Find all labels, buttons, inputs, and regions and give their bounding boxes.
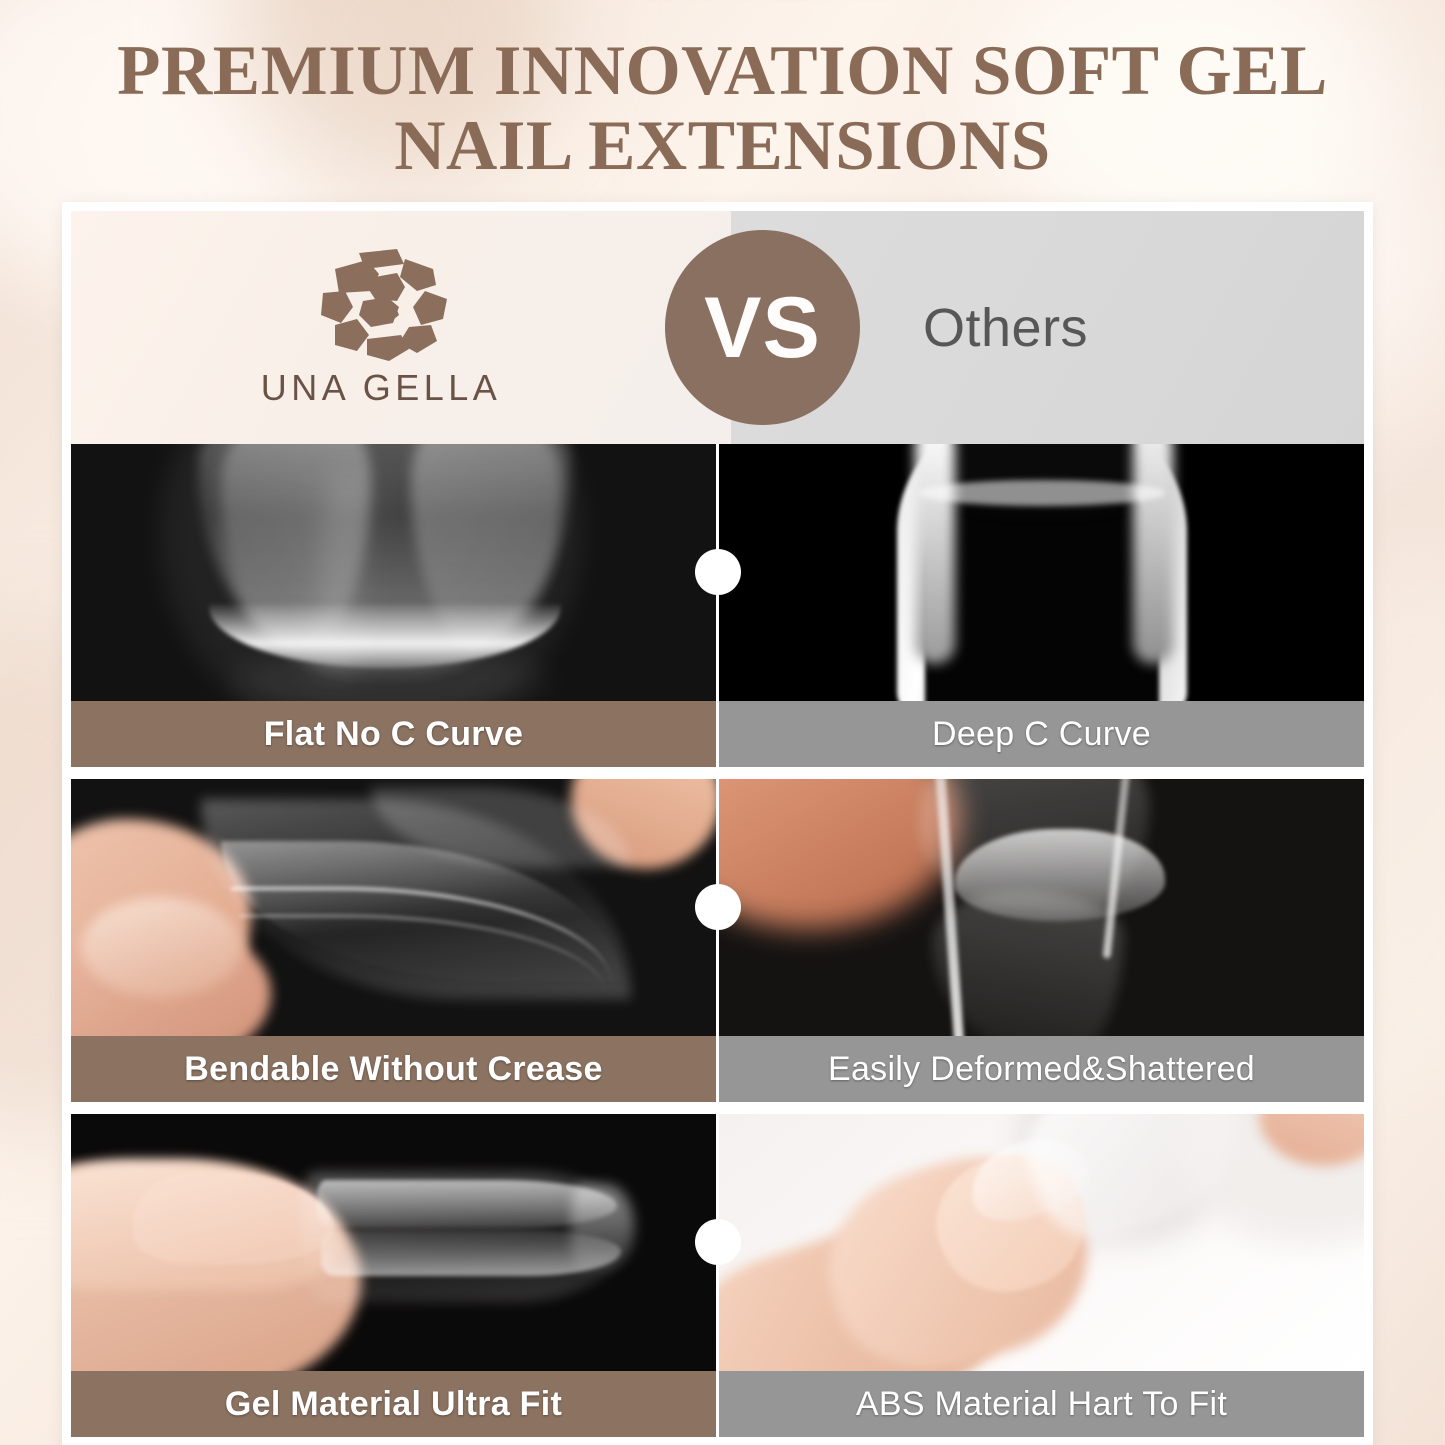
theirs-label-bar: ABS Material Hart To Fit	[719, 1371, 1364, 1437]
comparison-card-inner: UNA GELLA Others VS	[71, 211, 1364, 1445]
abs-tip-on-finger-photo	[719, 1114, 1364, 1371]
row-divider-dot	[695, 1219, 741, 1265]
deep-curve-nail-tip-photo	[719, 444, 1364, 701]
ours-label-text: Flat No C Curve	[264, 715, 524, 754]
ours-label-bar: Flat No C Curve	[71, 701, 716, 767]
gel-tip-on-finger-photo	[71, 1114, 716, 1371]
row-divider-dot	[695, 884, 741, 930]
ours-label-bar: Gel Material Ultra Fit	[71, 1371, 716, 1437]
page-title-line-1: PREMIUM INNOVATION SOFT GEL	[0, 34, 1445, 109]
theirs-label-text: Deep C Curve	[932, 715, 1151, 754]
vs-badge: VS	[665, 230, 860, 425]
theirs-label-text: ABS Material Hart To Fit	[856, 1385, 1227, 1424]
theirs-label-bar: Deep C Curve	[719, 701, 1364, 767]
vs-label: VS	[704, 285, 821, 371]
comparison-row: Bendable Without Crease Easily Deformed&…	[71, 779, 1364, 1102]
brand-name: UNA GELLA	[261, 367, 502, 409]
row-divider-dot	[695, 549, 741, 595]
page-title-line-2: NAIL EXTENSIONS	[0, 109, 1445, 184]
ours-label-bar: Bendable Without Crease	[71, 1036, 716, 1102]
brand-panel: UNA GELLA	[71, 211, 731, 444]
theirs-label-bar: Easily Deformed&Shattered	[719, 1036, 1364, 1102]
ours-label-text: Bendable Without Crease	[184, 1050, 602, 1089]
row-labels: Bendable Without Crease Easily Deformed&…	[71, 1036, 1364, 1102]
comparison-rows: Flat No C Curve Deep C Curve	[71, 444, 1364, 1437]
comparison-card: UNA GELLA Others VS	[62, 202, 1373, 1445]
bending-gel-tip-photo	[71, 779, 716, 1036]
row-labels: Gel Material Ultra Fit ABS Material Hart…	[71, 1371, 1364, 1437]
flat-nail-tip-photo	[71, 444, 716, 701]
page-title: PREMIUM INNOVATION SOFT GEL NAIL EXTENSI…	[0, 34, 1445, 184]
ours-label-text: Gel Material Ultra Fit	[225, 1385, 562, 1424]
rose-icon	[305, 247, 457, 365]
comparison-row: Gel Material Ultra Fit ABS Material Hart…	[71, 1114, 1364, 1437]
comparison-row: Flat No C Curve Deep C Curve	[71, 444, 1364, 767]
theirs-label-text: Easily Deformed&Shattered	[828, 1050, 1255, 1089]
competitor-label: Others	[923, 297, 1088, 359]
row-labels: Flat No C Curve Deep C Curve	[71, 701, 1364, 767]
deformed-tip-photo	[719, 779, 1364, 1036]
comparison-header: UNA GELLA Others VS	[71, 211, 1364, 444]
